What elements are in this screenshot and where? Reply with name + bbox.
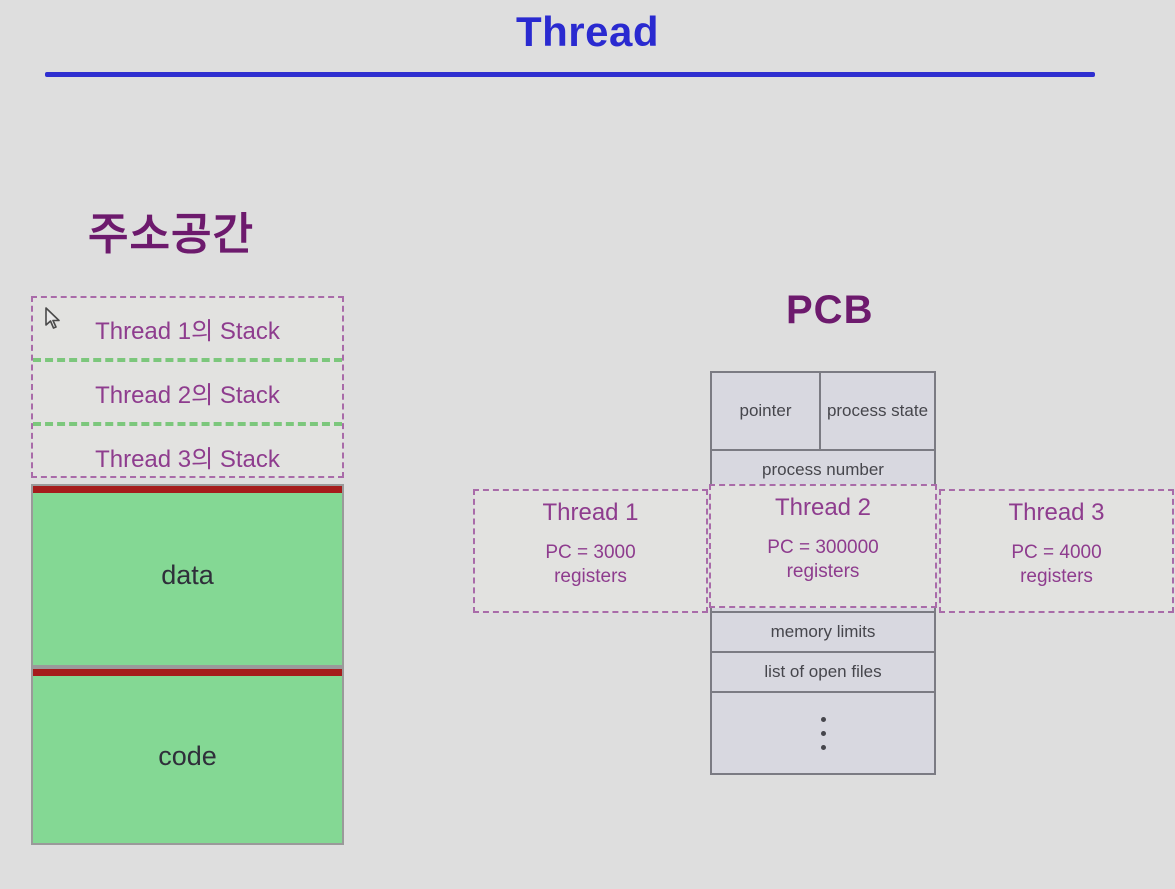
stack-label: Thread 3의 Stack [95, 439, 280, 474]
mouse-pointer-icon [45, 307, 63, 331]
memory-segment-data: data [31, 484, 344, 667]
thread-registers: registers [787, 560, 860, 584]
segment-divider-top [33, 669, 342, 676]
pcb-cell-pointer: pointer [712, 373, 821, 449]
stack-label: Thread 1의 Stack [95, 311, 280, 346]
thread-registers: registers [554, 565, 627, 589]
memory-segment-code: code [31, 667, 344, 845]
thread-name: Thread 3 [1008, 499, 1104, 527]
pcb-row-ellipsis [712, 693, 934, 773]
thread-pc: PC = 300000 [767, 536, 878, 560]
thread-box-3: Thread 3 PC = 4000 registers [939, 489, 1174, 613]
pcb-row-memory-limits: memory limits [712, 613, 934, 653]
stack-row-thread-3: Thread 3의 Stack [33, 422, 342, 486]
vertical-ellipsis-icon [821, 717, 826, 750]
pcb-heading: PCB [786, 288, 873, 333]
thread-name: Thread 1 [542, 499, 638, 527]
address-space-heading: 주소공간 [88, 198, 254, 262]
thread-registers: registers [1020, 565, 1093, 589]
segment-label: code [158, 741, 217, 772]
stack-row-thread-2: Thread 2의 Stack [33, 358, 342, 422]
pcb-row-pointer-state: pointer process state [712, 373, 934, 451]
stack-label: Thread 2의 Stack [95, 375, 280, 410]
stack-region: Thread 1의 Stack Thread 2의 Stack Thread 3… [31, 296, 344, 478]
title-divider [45, 72, 1095, 77]
stack-row-thread-1: Thread 1의 Stack [33, 298, 342, 358]
thread-box-1: Thread 1 PC = 3000 registers [473, 489, 708, 613]
segment-divider-top [33, 486, 342, 493]
thread-box-2: Thread 2 PC = 300000 registers [709, 484, 937, 608]
thread-name: Thread 2 [775, 494, 871, 522]
segment-label: data [161, 560, 214, 591]
page-title: Thread [0, 8, 1175, 56]
thread-pc: PC = 3000 [545, 541, 635, 565]
pcb-row-list-of-open-files: list of open files [712, 653, 934, 693]
thread-pc: PC = 4000 [1011, 541, 1101, 565]
pcb-cell-process-state: process state [821, 373, 934, 449]
